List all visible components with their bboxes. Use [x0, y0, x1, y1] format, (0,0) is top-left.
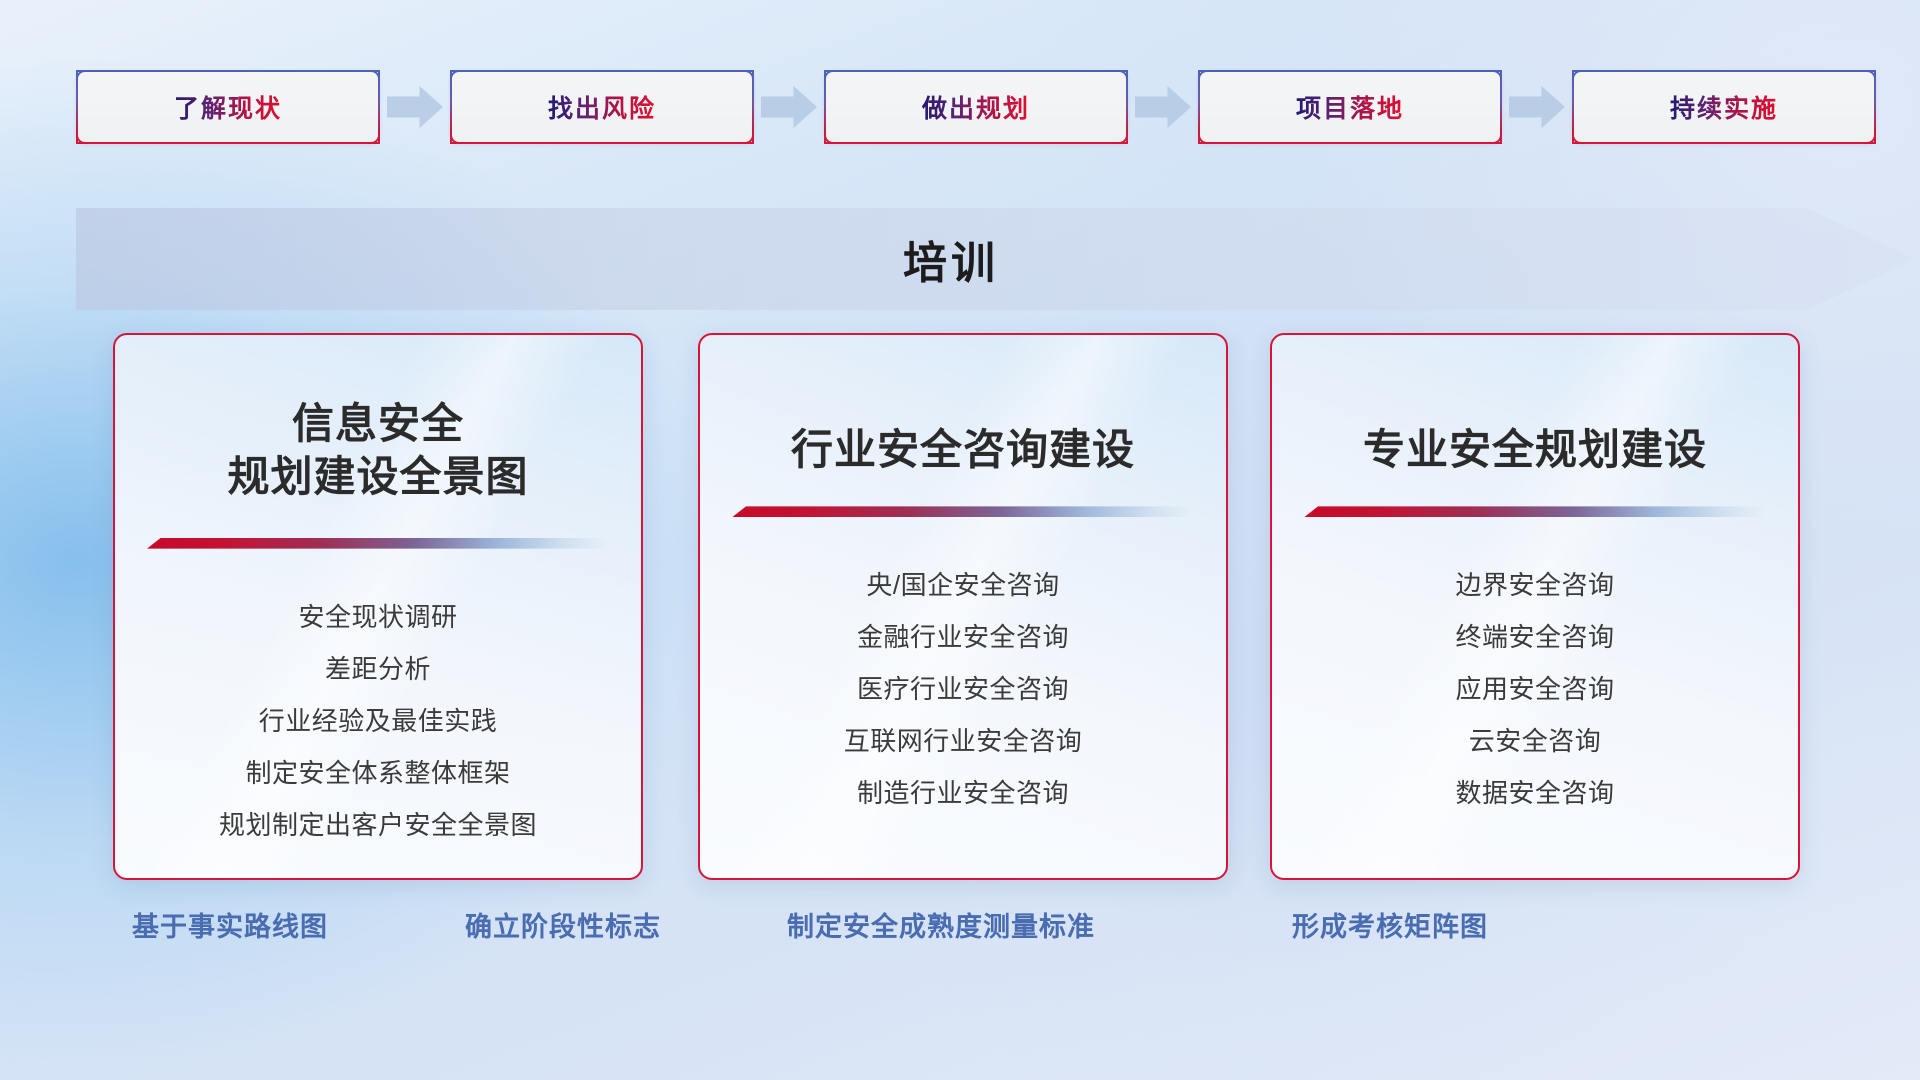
- card-item-list: 安全现状调研 差距分析 行业经验及最佳实践 制定安全体系整体框架 规划制定出客户…: [115, 591, 641, 851]
- list-item: 差距分析: [115, 643, 641, 695]
- card-title: 专业安全规划建设: [1272, 423, 1798, 476]
- process-step-0[interactable]: 了解现状: [76, 70, 380, 144]
- bottom-label-0: 基于事实路线图: [132, 905, 328, 944]
- card-professional-security-planning[interactable]: 专业安全规划建设 边界安全咨询 终端安全咨询 应用安全咨询 云安全咨询 数据安全…: [1270, 333, 1800, 880]
- list-item: 规划制定出客户安全全景图: [115, 799, 641, 851]
- process-step-2[interactable]: 做出规划: [824, 70, 1128, 144]
- card-title-line-1: 信息安全: [137, 397, 619, 450]
- banner-title: 培训: [903, 227, 999, 291]
- card-item-list: 央/国企安全咨询 金融行业安全咨询 医疗行业安全咨询 互联网行业安全咨询 制造行…: [700, 559, 1226, 819]
- card-divider: [147, 538, 609, 549]
- card-title-line-1: 行业安全咨询建设: [722, 423, 1204, 476]
- process-step-label: 了解现状: [174, 89, 282, 125]
- list-item: 安全现状调研: [115, 591, 641, 643]
- list-item: 互联网行业安全咨询: [700, 715, 1226, 767]
- card-industry-security-consulting[interactable]: 行业安全咨询建设 央/国企安全咨询 金融行业安全咨询 医疗行业安全咨询 互联网行…: [698, 333, 1228, 880]
- process-step-4[interactable]: 持续实施: [1572, 70, 1876, 144]
- list-item: 数据安全咨询: [1272, 767, 1798, 819]
- bottom-label-row: 基于事实路线图 确立阶段性标志 制定安全成熟度测量标准 形成考核矩阵图: [0, 905, 1920, 965]
- process-step-3[interactable]: 项目落地: [1198, 70, 1502, 144]
- process-step-label: 找出风险: [548, 89, 656, 125]
- right-arrow-icon: [1135, 85, 1191, 129]
- list-item: 制造行业安全咨询: [700, 767, 1226, 819]
- process-step-label: 做出规划: [922, 89, 1030, 125]
- process-step-label: 项目落地: [1296, 89, 1404, 125]
- card-title-line-2: 规划建设全景图: [137, 450, 619, 503]
- card-item-list: 边界安全咨询 终端安全咨询 应用安全咨询 云安全咨询 数据安全咨询: [1272, 559, 1798, 819]
- list-item: 边界安全咨询: [1272, 559, 1798, 611]
- right-arrow-icon: [1509, 85, 1565, 129]
- list-item: 制定安全体系整体框架: [115, 747, 641, 799]
- card-information-security-blueprint[interactable]: 信息安全 规划建设全景图 安全现状调研 差距分析 行业经验及最佳实践 制定安全体…: [113, 333, 643, 880]
- list-item: 应用安全咨询: [1272, 663, 1798, 715]
- card-title-line-1: 专业安全规划建设: [1294, 423, 1776, 476]
- card-title: 信息安全 规划建设全景图: [115, 397, 641, 504]
- card-divider-wrap: [115, 538, 641, 549]
- list-item: 行业经验及最佳实践: [115, 695, 641, 747]
- process-step-label: 持续实施: [1670, 89, 1778, 125]
- list-item: 金融行业安全咨询: [700, 611, 1226, 663]
- list-item: 终端安全咨询: [1272, 611, 1798, 663]
- card-divider: [732, 506, 1194, 517]
- list-item: 云安全咨询: [1272, 715, 1798, 767]
- list-item: 央/国企安全咨询: [700, 559, 1226, 611]
- card-divider: [1304, 506, 1766, 517]
- card-divider-wrap: [1272, 506, 1798, 517]
- process-step-1[interactable]: 找出风险: [450, 70, 754, 144]
- bottom-label-1: 确立阶段性标志: [465, 905, 661, 944]
- process-step-row: 了解现状 找出风险 做出规划 项目落地 持续实施: [0, 68, 1920, 146]
- card-divider-wrap: [700, 506, 1226, 517]
- training-banner: 培训: [76, 208, 1916, 310]
- card-title: 行业安全咨询建设: [700, 423, 1226, 476]
- list-item: 医疗行业安全咨询: [700, 663, 1226, 715]
- bottom-label-2: 制定安全成熟度测量标准: [787, 905, 1095, 944]
- card-row: 信息安全 规划建设全景图 安全现状调研 差距分析 行业经验及最佳实践 制定安全体…: [0, 333, 1920, 893]
- bottom-label-3: 形成考核矩阵图: [1292, 905, 1488, 944]
- right-arrow-icon: [761, 85, 817, 129]
- right-arrow-icon: [387, 85, 443, 129]
